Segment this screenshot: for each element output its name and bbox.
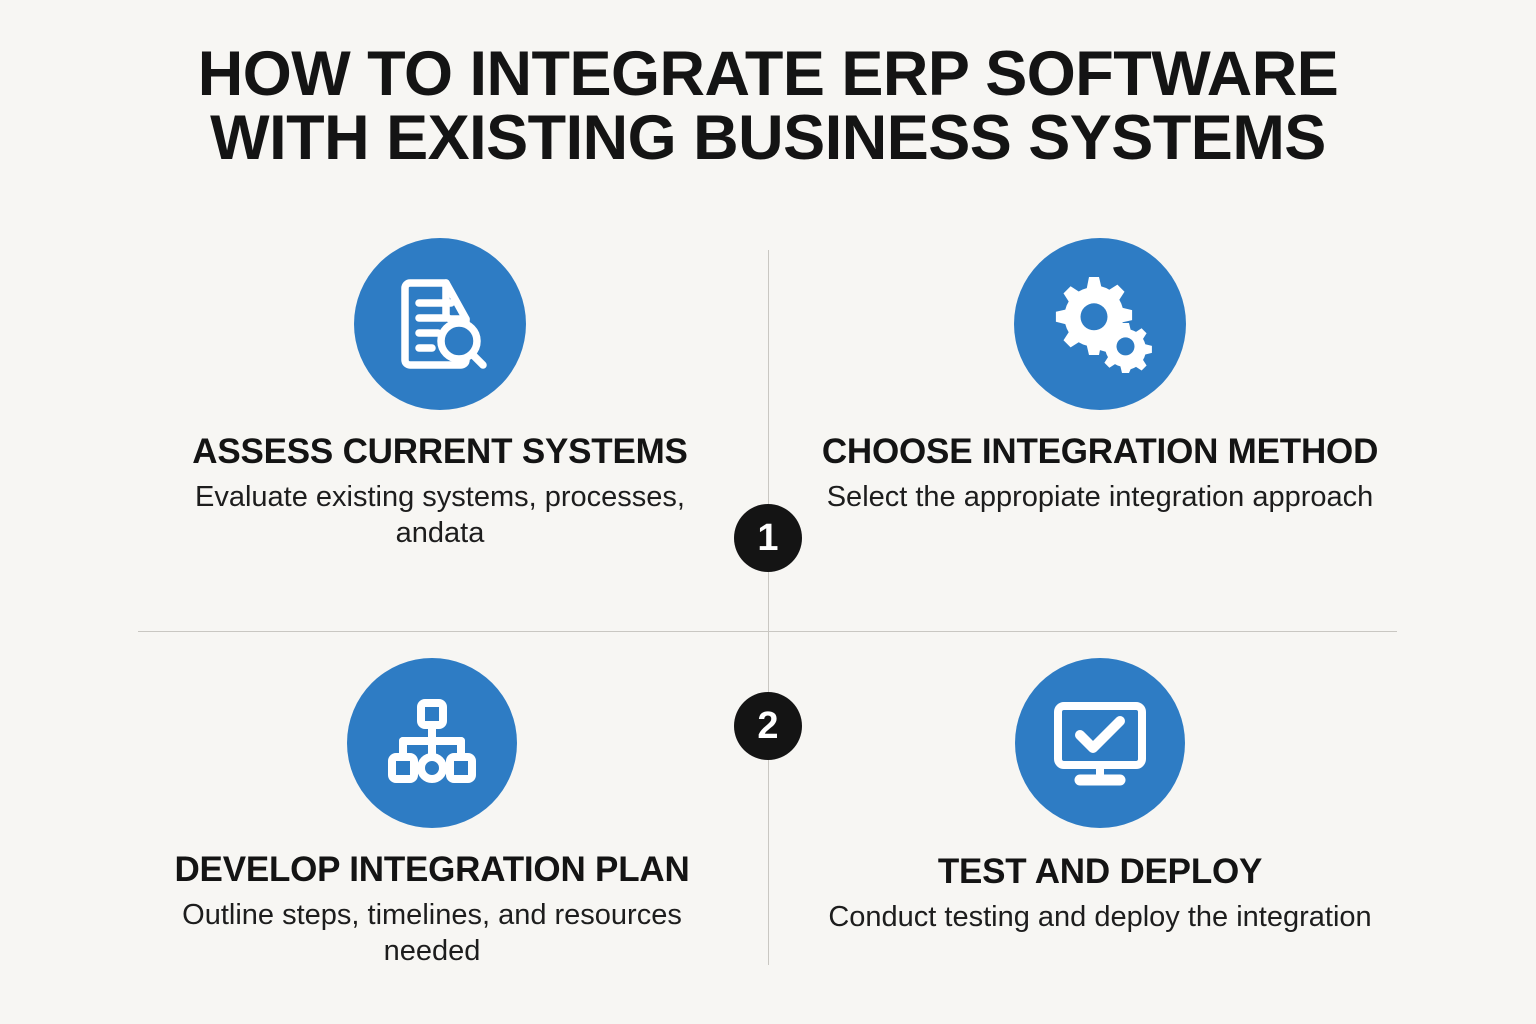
step-card-develop-integration-plan: DEVELOP INTEGRATION PLAN Outline steps, … — [132, 658, 732, 970]
step-title: ASSESS CURRENT SYSTEMS — [140, 432, 740, 471]
step-description: Select the appropiate integration approa… — [800, 479, 1400, 515]
monitor-check-icon — [1048, 691, 1152, 795]
step-card-choose-integration-method: CHOOSE INTEGRATION METHOD Select the app… — [800, 238, 1400, 515]
icon-badge-test-and-deploy — [1015, 658, 1185, 828]
step-title: TEST AND DEPLOY — [800, 852, 1400, 891]
step-number-badge-1: 1 — [734, 504, 802, 572]
step-number-label: 1 — [757, 519, 778, 557]
infographic-canvas: HOW TO INTEGRATE ERP SOFTWARE WITH EXIST… — [0, 0, 1536, 1024]
step-card-test-and-deploy: TEST AND DEPLOY Conduct testing and depl… — [800, 658, 1400, 935]
step-title: DEVELOP INTEGRATION PLAN — [132, 850, 732, 889]
step-description: Evaluate existing systems, processes, an… — [140, 479, 740, 552]
step-number-label: 2 — [757, 707, 778, 745]
step-title: CHOOSE INTEGRATION METHOD — [800, 432, 1400, 471]
vertical-divider — [768, 250, 769, 965]
step-number-badge-2: 2 — [734, 692, 802, 760]
step-card-assess-current-systems: ASSESS CURRENT SYSTEMS Evaluate existing… — [140, 238, 740, 552]
icon-badge-assess-current-systems — [354, 238, 526, 410]
step-description: Conduct testing and deploy the integrati… — [800, 899, 1400, 935]
gears-icon — [1047, 271, 1153, 377]
icon-badge-choose-integration-method — [1014, 238, 1186, 410]
page-title: HOW TO INTEGRATE ERP SOFTWARE WITH EXIST… — [0, 42, 1536, 171]
document-search-icon — [388, 272, 492, 376]
hierarchy-icon — [382, 693, 482, 793]
page-title-line-1: HOW TO INTEGRATE ERP SOFTWARE — [0, 42, 1536, 106]
icon-badge-develop-integration-plan — [347, 658, 517, 828]
page-title-line-2: WITH EXISTING BUSINESS SYSTEMS — [0, 106, 1536, 170]
step-description: Outline steps, timelines, and resources … — [132, 897, 732, 970]
